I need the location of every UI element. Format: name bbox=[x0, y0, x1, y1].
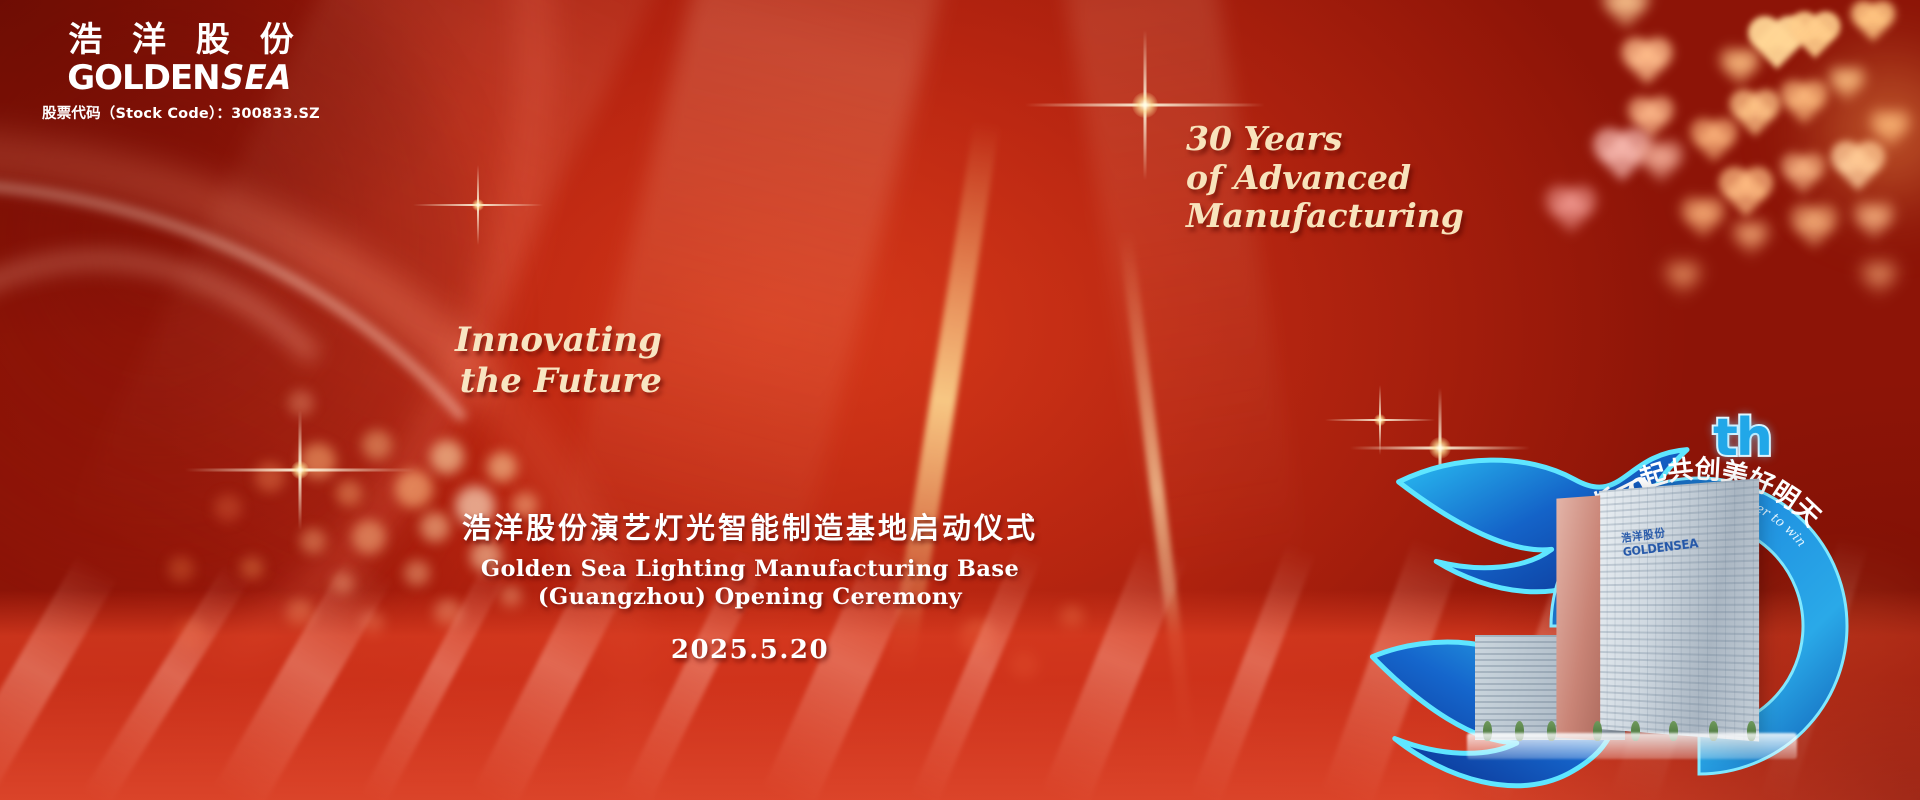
building-base-glow bbox=[1467, 733, 1797, 759]
headquarters-building-image: 浩洋股份 GOLDENSEA bbox=[1533, 475, 1793, 755]
event-title-english: Golden Sea Lighting Manufacturing Base (… bbox=[0, 555, 1500, 611]
building-column bbox=[1556, 495, 1600, 740]
logo-chinese-name: 浩 洋 股 份 bbox=[42, 22, 320, 59]
event-title-english-line2: (Guangzhou) Opening Ceremony bbox=[0, 583, 1500, 611]
tagline-right-line2: of Advanced bbox=[1186, 159, 1464, 198]
logo-english-part2: SEA bbox=[217, 61, 295, 95]
headline-char: 三 bbox=[802, 73, 959, 283]
tagline-right-line1: 30 Years bbox=[1186, 120, 1464, 159]
headline-char: 新 bbox=[823, 269, 978, 482]
ordinal-suffix-th: th bbox=[1713, 408, 1771, 468]
event-date: 2025.5.20 bbox=[0, 635, 1500, 665]
event-subtitle-block: 浩洋股份演艺灯光智能制造基地启动仪式 Golden Sea Lighting M… bbox=[0, 505, 1500, 665]
event-title-english-line1: Golden Sea Lighting Manufacturing Base bbox=[0, 555, 1500, 583]
headline-line-2: 创新向未来 bbox=[656, 238, 1463, 486]
logo-english-name: GOLDENSEA bbox=[42, 61, 320, 95]
tagline-left-line2: the Future bbox=[455, 361, 662, 402]
building-tower bbox=[1599, 478, 1759, 741]
headline-char: 向 bbox=[974, 246, 1145, 474]
headline-char: 未 bbox=[1143, 257, 1297, 468]
company-logo[interactable]: 浩 洋 股 份 GOLDENSEA 股票代码（Stock Code）：30083… bbox=[42, 22, 320, 123]
tagline-left-line1: Innovating bbox=[455, 320, 662, 361]
event-title-chinese: 浩洋股份演艺灯光智能制造基地启动仪式 bbox=[0, 505, 1500, 547]
poster-canvas: 浩 洋 股 份 GOLDENSEA 股票代码（Stock Code）：30083… bbox=[0, 0, 1920, 800]
stock-code-label: 股票代码（Stock Code）：300833.SZ bbox=[42, 102, 320, 123]
logo-english-part1: GOLDEN bbox=[67, 61, 219, 95]
anniversary-emblem: 爱在一起共创美好明天 lovely day always together to… bbox=[1355, 430, 1915, 800]
tagline-right: 30 Years of Advanced Manufacturing bbox=[1186, 120, 1464, 236]
headline-char: 创 bbox=[647, 248, 833, 490]
tagline-left: Innovating the Future bbox=[455, 320, 662, 402]
tagline-right-line3: Manufacturing bbox=[1186, 197, 1464, 236]
headline-char: 智 bbox=[471, 62, 658, 307]
